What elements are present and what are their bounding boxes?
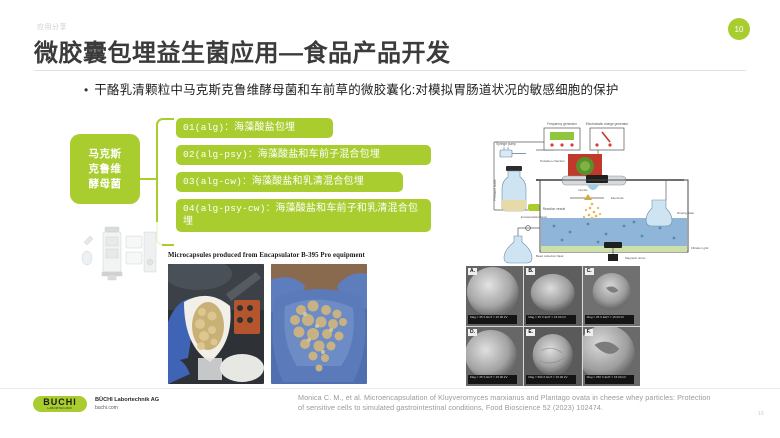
organism-line-1: 马克斯 bbox=[89, 147, 122, 162]
buchi-logo-subword: LABORTECHNIK bbox=[48, 407, 73, 410]
photo-caption: Microcapsules produced from Encapsulator… bbox=[168, 252, 458, 259]
formulation-desc: 海藻酸盐和车前子混合包埋 bbox=[258, 149, 380, 160]
svg-text:Electrode: Electrode bbox=[611, 196, 624, 200]
sem-cell-scalebar: Mag = 35 X EHT = 15.00 kV bbox=[468, 375, 517, 384]
sem-cell-letter: F. bbox=[585, 329, 593, 336]
lab-photo-gloved-hand-with-capsules bbox=[271, 264, 367, 384]
sem-cell: F. Mag = 350 X EHT = 15.00 kV bbox=[583, 327, 640, 387]
sem-cell-scalebar: Mag = 35 X EHT = 15.00 kV bbox=[585, 315, 634, 324]
sem-cell-letter: E. bbox=[526, 329, 535, 336]
bullet-marker-icon: • bbox=[84, 83, 88, 97]
sem-cell-scalebar: Mag = 35 X EHT = 15.00 kV bbox=[468, 315, 517, 324]
buchi-logo-icon: BUCHI LABORTECHNIK bbox=[33, 396, 87, 412]
svg-text:Electrostatic charge generator: Electrostatic charge generator bbox=[586, 122, 629, 126]
formulation-item: 01(alg)：海藻酸盐包埋 bbox=[176, 118, 333, 138]
buchi-logo-word: BUCHI bbox=[43, 398, 77, 407]
svg-text:Bead collection flask: Bead collection flask bbox=[536, 254, 564, 258]
formulation-desc: 海藻酸盐和乳清混合包埋 bbox=[252, 176, 364, 187]
svg-text:Reaction vessel: Reaction vessel bbox=[543, 207, 566, 211]
sem-cell-scalebar: Mag = 500 X EHT = 15.00 kV bbox=[526, 375, 575, 384]
svg-text:Pressure bottle: Pressure bottle bbox=[493, 179, 497, 201]
lab-photo-group bbox=[168, 264, 367, 384]
formulation-desc: 海藻酸盐包埋 bbox=[234, 122, 295, 133]
sem-cell-letter: B. bbox=[526, 268, 535, 275]
bracket-stem bbox=[139, 178, 157, 180]
formulation-item: 03(alg-cw)：海藻酸盐和乳清混合包埋 bbox=[176, 172, 403, 192]
buchi-logo-block: BUCHI LABORTECHNIK BÜCHI Labortechnik AG… bbox=[33, 396, 159, 412]
organism-line-2: 克鲁维 bbox=[89, 162, 122, 177]
bullet-text: 干酪乳清颗粒中马克斯克鲁维酵母菌和车前草的微胶囊化:对模拟胃肠道状况的敏感细胞的… bbox=[94, 83, 618, 98]
formulation-code: 04(alg-psy-cw)： bbox=[183, 203, 275, 214]
sem-cell-letter: D. bbox=[468, 329, 477, 336]
citation-text: Monica C. M., et al. Microencapsulation … bbox=[298, 393, 718, 413]
sem-micrograph-grid: A. Mag = 35 X EHT = 15.00 kV B. Mag = 35… bbox=[466, 266, 640, 386]
footer-divider bbox=[0, 388, 780, 389]
sem-cell: E. Mag = 500 X EHT = 15.00 kV bbox=[524, 327, 581, 387]
lab-photo-funnel-with-capsules bbox=[168, 264, 264, 384]
sem-cell-letter: C. bbox=[585, 268, 594, 275]
sem-cell: B. Mag = 35 X EHT = 15.00 kV bbox=[524, 266, 581, 326]
sem-cell-scalebar: Mag = 350 X EHT = 15.00 kV bbox=[585, 375, 634, 384]
sem-cell: D. Mag = 35 X EHT = 15.00 kV bbox=[466, 327, 523, 387]
eyebrow-label: 应用分享 bbox=[37, 22, 67, 32]
formulation-list: 01(alg)：海藻酸盐包埋 02(alg-psy)：海藻酸盐和车前子混合包埋 … bbox=[176, 118, 436, 239]
formulation-code: 03(alg-cw)： bbox=[183, 176, 252, 187]
svg-text:Nozzle: Nozzle bbox=[578, 188, 588, 192]
encapsulator-equipment-image bbox=[78, 222, 162, 284]
formulation-code: 02(alg-psy)： bbox=[183, 149, 258, 160]
svg-text:Pulsation chamber: Pulsation chamber bbox=[540, 159, 565, 163]
title-divider bbox=[34, 70, 746, 71]
organism-label-box: 马克斯 克鲁维 酵母菌 bbox=[70, 134, 140, 204]
sem-cell-scalebar: Mag = 35 X EHT = 15.00 kV bbox=[526, 315, 575, 324]
bullet-row: • 干酪乳清颗粒中马克斯克鲁维酵母菌和车前草的微胶囊化:对模拟胃肠道状况的敏感细… bbox=[84, 83, 704, 98]
slide-number-badge: 10 bbox=[728, 18, 750, 40]
formulation-code: 01(alg)： bbox=[183, 122, 234, 133]
company-text-block: BÜCHI Labortechnik AG buchi.com bbox=[95, 396, 159, 412]
svg-text:Syringe pump: Syringe pump bbox=[496, 142, 516, 146]
svg-text:Filtration grid: Filtration grid bbox=[691, 246, 709, 250]
page-title: 微胶囊包埋益生菌应用—食品产品开发 bbox=[34, 33, 451, 68]
slide-canvas: 应用分享 10 微胶囊包埋益生菌应用—食品产品开发 • 干酪乳清颗粒中马克斯克鲁… bbox=[0, 0, 780, 438]
page-number: 10 bbox=[758, 411, 764, 417]
company-name: BÜCHI Labortechnik AG bbox=[95, 396, 159, 404]
formulation-item: 04(alg-psy-cw)：海藻酸盐和车前子和乳清混合包埋 bbox=[176, 199, 431, 232]
sem-cell: A. Mag = 35 X EHT = 15.00 kV bbox=[466, 266, 523, 326]
organism-line-3: 酵母菌 bbox=[89, 177, 122, 192]
svg-text:Magnetic stirrer: Magnetic stirrer bbox=[625, 256, 646, 260]
sem-cell: C. Mag = 35 X EHT = 15.00 kV bbox=[583, 266, 640, 326]
svg-text:Rinsing flask: Rinsing flask bbox=[677, 211, 695, 215]
sem-cell-letter: A. bbox=[468, 268, 477, 275]
formulation-item: 02(alg-psy)：海藻酸盐和车前子混合包埋 bbox=[176, 145, 431, 165]
encapsulator-schematic-diagram: Frequency generator Electrostatic charge… bbox=[470, 118, 755, 266]
svg-text:Frequency generator: Frequency generator bbox=[547, 122, 578, 126]
company-website: buchi.com bbox=[95, 404, 159, 412]
